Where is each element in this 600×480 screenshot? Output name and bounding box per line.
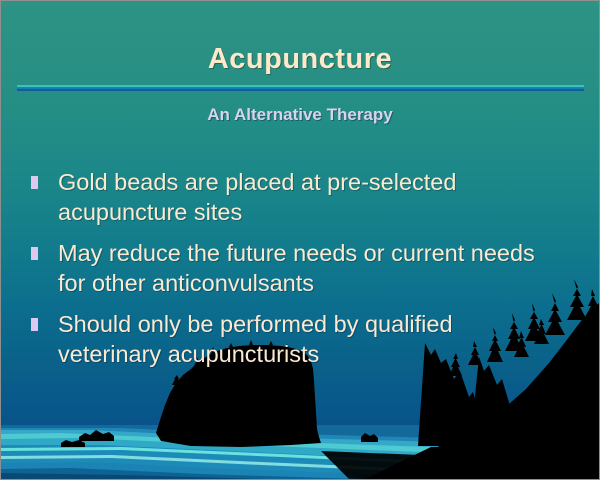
shoreline-water [1, 425, 600, 480]
list-item: May reduce the future needs or current n… [1, 238, 600, 298]
square-bullet-icon [31, 318, 38, 331]
offshore-small-rocks [61, 430, 378, 447]
list-item: Should only be performed by qualified ve… [1, 309, 600, 369]
bullet-text: Should only be performed by qualified ve… [58, 309, 600, 369]
bullet-text: May reduce the future needs or current n… [58, 238, 600, 298]
presentation-slide: Acupuncture An Alternative Therapy Gold … [0, 0, 600, 480]
title-divider [17, 85, 584, 91]
list-item: Gold beads are placed at pre-selected ac… [1, 167, 600, 227]
beach-sand [361, 442, 600, 480]
slide-subtitle: An Alternative Therapy [1, 105, 599, 125]
bullet-list: Gold beads are placed at pre-selected ac… [1, 167, 600, 380]
slide-title: Acupuncture [1, 43, 599, 76]
square-bullet-icon [31, 247, 38, 260]
square-bullet-icon [31, 176, 38, 189]
bullet-text: Gold beads are placed at pre-selected ac… [58, 167, 600, 227]
